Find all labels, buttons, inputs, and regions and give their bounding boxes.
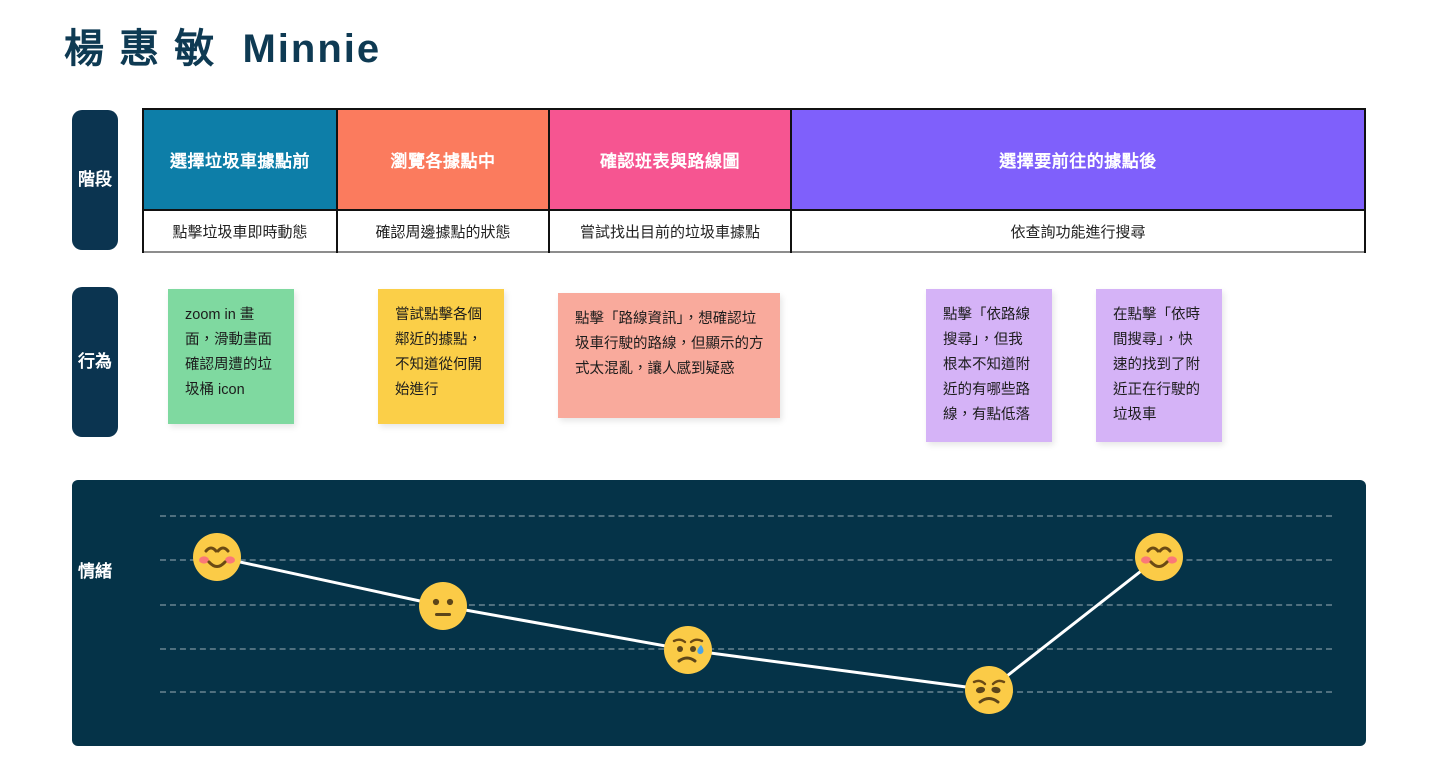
stage-column-1: 選擇垃圾車據點前點擊垃圾車即時動態	[142, 108, 338, 253]
stage-column-4: 選擇要前往的據點後依查詢功能進行搜尋	[792, 108, 1366, 253]
stage-subtitle-1: 點擊垃圾車即時動態	[144, 211, 336, 253]
behavior-note-2[interactable]: 嘗試點擊各個鄰近的據點，不知道從何開始進行	[378, 289, 504, 424]
stage-title-1[interactable]: 選擇垃圾車據點前	[144, 108, 336, 211]
stage-title-2[interactable]: 瀏覽各據點中	[338, 108, 548, 211]
emotion-emoji-neutral-face-2[interactable]	[419, 582, 467, 630]
stage-subtitle-3: 嘗試找出目前的垃圾車據點	[550, 211, 790, 253]
behavior-note-5[interactable]: 在點擊「依時間搜尋」，快速的找到了附近正在行駛的垃圾車	[1096, 289, 1222, 442]
emotion-line-chart	[72, 480, 1366, 746]
behavior-note-3[interactable]: 點擊「路線資訊」，想確認垃圾車行駛的路線，但顯示的方式太混亂，讓人感到疑惑	[558, 293, 780, 418]
stage-title-3[interactable]: 確認班表與路線圖	[550, 108, 790, 211]
stage-column-3: 確認班表與路線圖嘗試找出目前的垃圾車據點	[550, 108, 792, 253]
row-label-stage-text: 階段	[78, 168, 112, 193]
stage-table: 選擇垃圾車據點前點擊垃圾車即時動態瀏覽各據點中確認周邊據點的狀態確認班表與路線圖…	[142, 108, 1366, 253]
emotion-panel: 情緒	[72, 480, 1366, 746]
stage-column-2: 瀏覽各據點中確認周邊據點的狀態	[338, 108, 550, 253]
emotion-emoji-weary-sad-face-4[interactable]	[965, 666, 1013, 714]
emotion-emoji-blush-smile-1[interactable]	[193, 533, 241, 581]
stage-title-4[interactable]: 選擇要前往的據點後	[792, 108, 1364, 211]
stage-subtitle-4: 依查詢功能進行搜尋	[792, 211, 1364, 253]
row-label-stage: 階段	[72, 110, 118, 250]
emotion-emoji-sad-sweat-face-3[interactable]	[664, 626, 712, 674]
page-title: 楊 惠 敏 Minnie	[64, 16, 381, 74]
emotion-emoji-blush-smile-5[interactable]	[1135, 533, 1183, 581]
row-label-behavior-text: 行為	[78, 350, 112, 375]
stage-subtitle-2: 確認周邊據點的狀態	[338, 211, 548, 253]
journey-map-page: 楊 惠 敏 Minnie 階段 行為 選擇垃圾車據點前點擊垃圾車即時動態瀏覽各據…	[0, 0, 1440, 777]
row-label-behavior: 行為	[72, 287, 118, 437]
behavior-note-4[interactable]: 點擊「依路線搜尋」，但我根本不知道附近的有哪些路線，有點低落	[926, 289, 1052, 442]
behavior-note-1[interactable]: zoom in 畫面，滑動畫面確認周遭的垃圾桶 icon	[168, 289, 294, 424]
